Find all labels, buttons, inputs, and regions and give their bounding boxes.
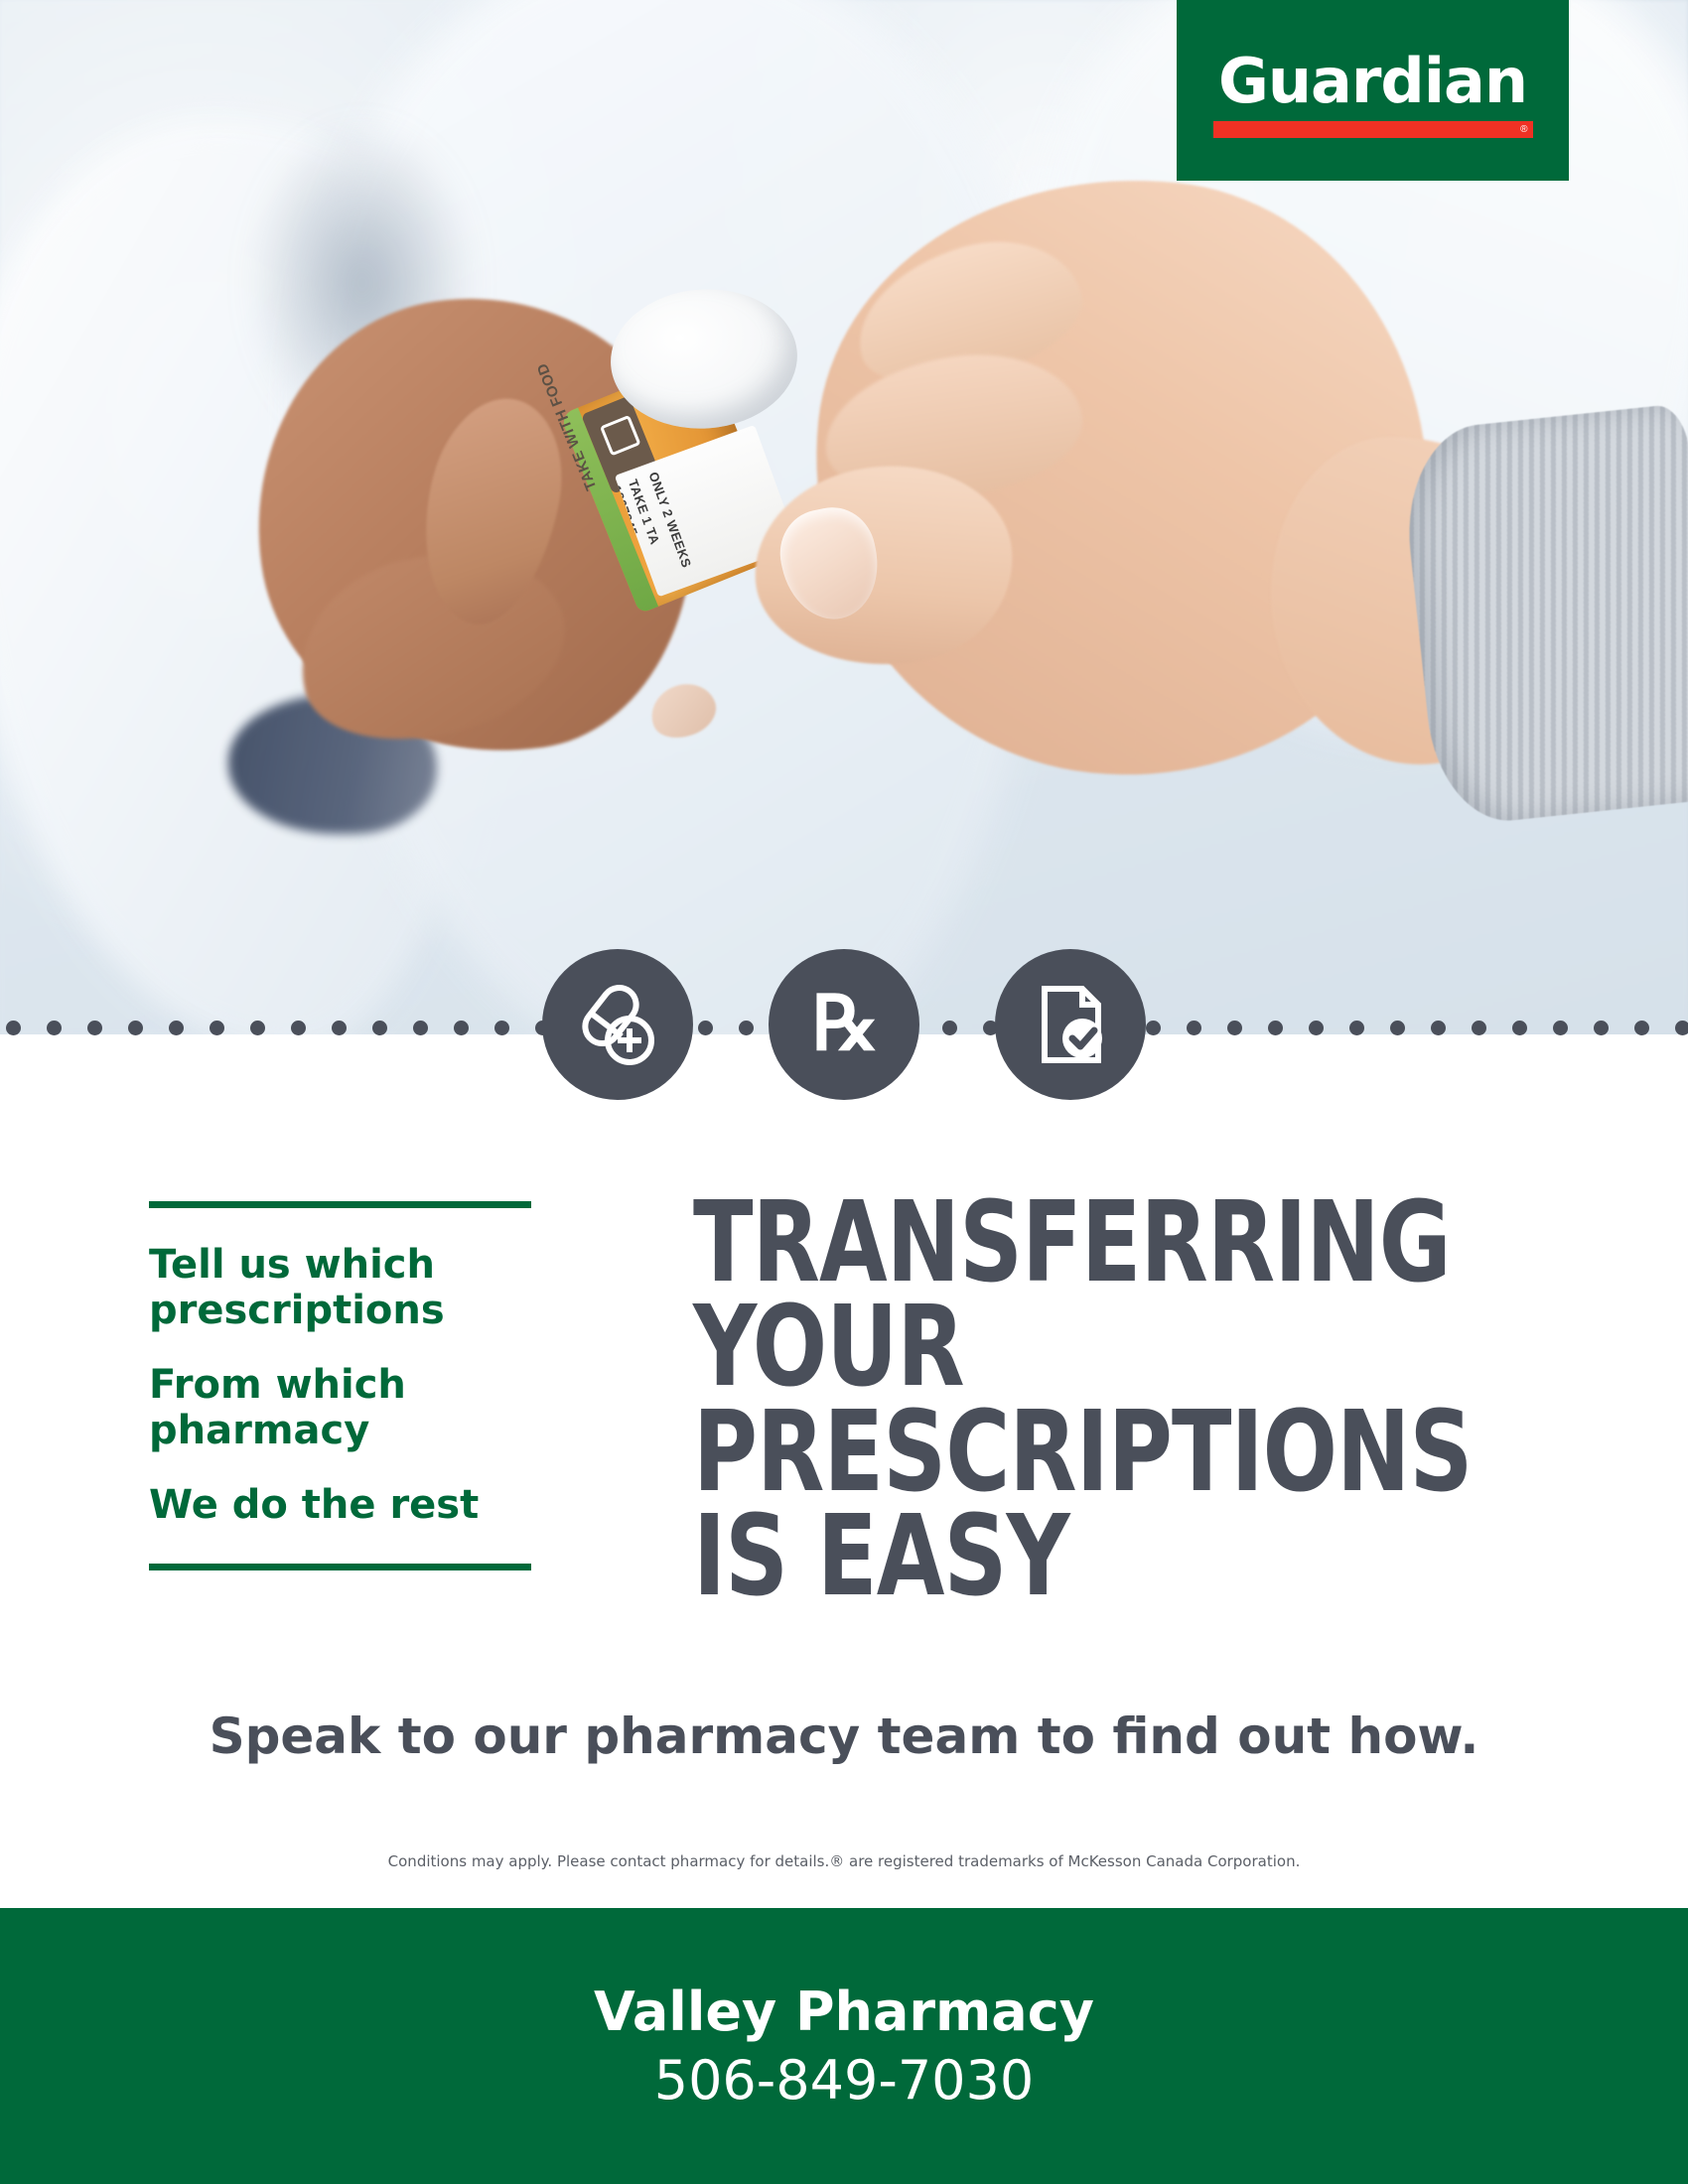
steps-rule-top: [149, 1201, 531, 1208]
headline-line-2: YOUR: [693, 1296, 1418, 1400]
step-item: Tell us which prescriptions: [149, 1242, 531, 1334]
pharmacy-phone[interactable]: 506-849-7030: [654, 2049, 1035, 2112]
subheadline: Speak to our pharmacy team to find out h…: [0, 1707, 1688, 1765]
step-item: From which pharmacy: [149, 1362, 531, 1454]
rx-glyph: ℞: [811, 987, 876, 1062]
disclaimer-text: Conditions may apply. Please contact pha…: [0, 1852, 1688, 1870]
headline-line-4: IS EASY: [693, 1505, 1418, 1609]
headline-line-3: PRESCRIPTIONS: [693, 1401, 1418, 1505]
steps-list: Tell us which prescriptions From which p…: [149, 1201, 531, 1570]
guardian-logo: Guardian ®: [1177, 0, 1569, 181]
headline: TRANSFERRING YOUR PRESCRIPTIONS IS EASY: [693, 1191, 1418, 1609]
steps-rule-bottom: [149, 1564, 531, 1570]
pharmacy-name: Valley Pharmacy: [594, 1980, 1094, 2043]
step-item: We do the rest: [149, 1482, 531, 1528]
pharmacy-footer: Valley Pharmacy 506-849-7030: [0, 1908, 1688, 2184]
registered-trademark-mark: ®: [1520, 125, 1527, 135]
customer-sweater-cuff: [1398, 403, 1688, 828]
guardian-logo-text: Guardian: [1218, 51, 1527, 112]
headline-line-1: TRANSFERRING: [693, 1191, 1418, 1296]
feature-icon-row: ℞: [0, 945, 1688, 1104]
document-check-icon: [995, 949, 1146, 1100]
guardian-logo-bar: ®: [1213, 121, 1533, 138]
poster: TAKE WITH FOOD 1867845 TAKE 1 TA ONLY 2 …: [0, 0, 1688, 2184]
rx-icon: ℞: [769, 949, 919, 1100]
pills-plus-icon: [542, 949, 693, 1100]
